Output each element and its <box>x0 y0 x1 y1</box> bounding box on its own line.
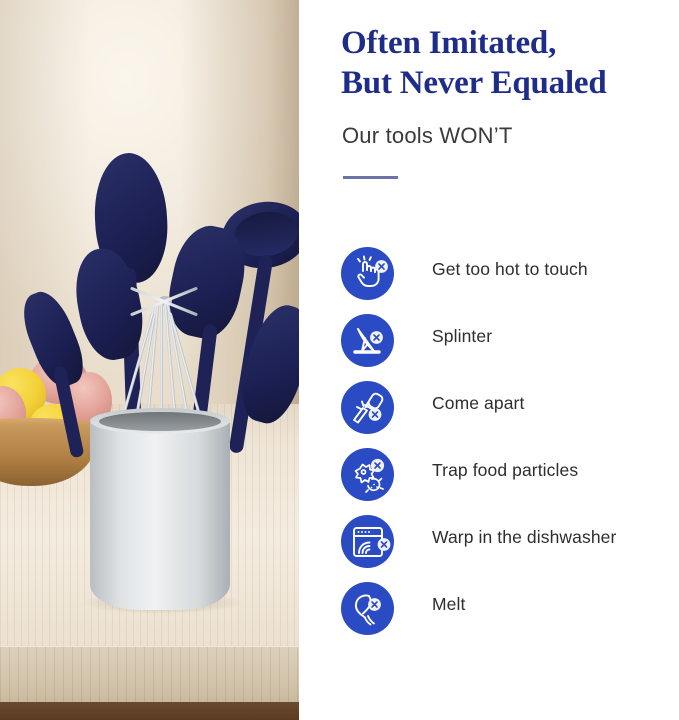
list-item-label: Melt <box>432 594 679 615</box>
list-item: Get too hot to touch <box>341 247 679 314</box>
benefits-list: Get too hot to touch Splinter <box>341 247 679 649</box>
content-panel: Often Imitated, But Never Equaled Our to… <box>300 0 679 720</box>
dishwasher-icon <box>341 515 394 568</box>
headline-line-2: But Never Equaled <box>341 63 679 103</box>
headline-line-1: Often Imitated, <box>341 25 556 61</box>
list-item-label: Come apart <box>432 393 679 414</box>
page-title: Often Imitated, But Never Equaled <box>341 23 679 103</box>
list-item-label: Warp in the dishwasher <box>432 527 679 548</box>
product-infographic: Often Imitated, But Never Equaled Our to… <box>0 0 679 720</box>
list-item-label: Trap food particles <box>432 460 679 481</box>
product-photo <box>0 0 300 720</box>
subheading: Our tools WON’T <box>342 123 512 149</box>
splinter-icon <box>341 314 394 367</box>
divider-rule <box>343 176 398 179</box>
germs-food-particles-icon <box>341 448 394 501</box>
utensil-crock <box>90 418 230 610</box>
list-item-label: Get too hot to touch <box>432 259 679 280</box>
list-item: Melt <box>341 582 679 649</box>
list-item: Splinter <box>341 314 679 381</box>
wood-counter-edge <box>0 646 300 702</box>
cabinet-below <box>0 702 300 720</box>
list-item: Come apart <box>341 381 679 448</box>
list-item-label: Splinter <box>432 326 679 347</box>
come-apart-icon <box>341 381 394 434</box>
list-item: Trap food particles <box>341 448 679 515</box>
melting-spatula-icon <box>341 582 394 635</box>
crock-opening <box>99 412 221 431</box>
hand-too-hot-icon <box>341 247 394 300</box>
list-item: Warp in the dishwasher <box>341 515 679 582</box>
